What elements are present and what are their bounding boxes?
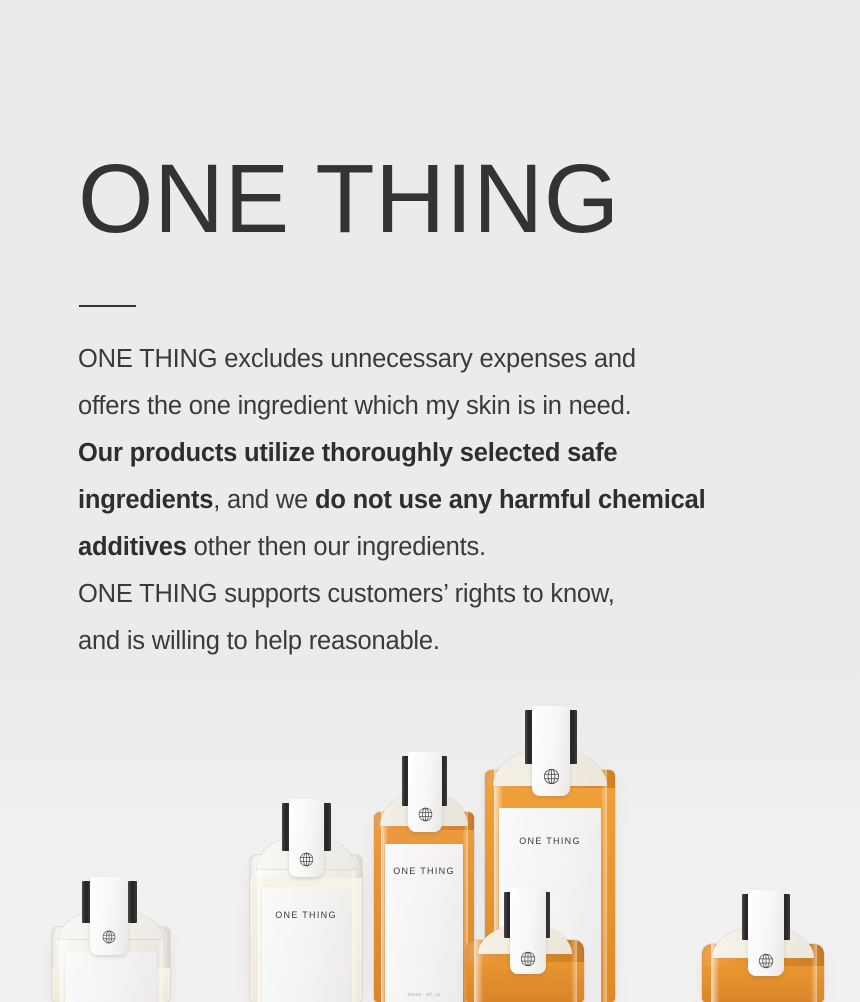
bottle-label-brand: ONE THING [275,910,337,920]
one-thing-circle-logo-icon [519,950,537,968]
bottle-label-volume: 150ml · 5fl. oz [407,992,440,997]
bottle-label-brand: ONE THING [393,866,455,876]
bottle-glass: ONE THING [250,855,362,1002]
bottle-neck-tag [90,877,128,955]
description-text: and is willing to help reasonable. [78,627,440,655]
description-line-5: additives other then our ingredients. [78,524,818,571]
description-text-bold: Our products utilize thoroughly selected… [78,439,617,467]
product-bottle[interactable]: ONE THING [250,855,362,1002]
description-line-1: ONE THING excludes unnecessary expenses … [78,336,818,383]
description-line-4: ingredients, and we do not use any harmf… [78,477,818,524]
product-bottle[interactable]: ONE THING 150ml · 5fl. oz [374,812,474,1002]
brand-description: ONE THING excludes unnecessary expenses … [78,336,818,665]
product-lineup-image: ONE THING [0,690,860,1002]
bottle-label-brand: ONE THING [519,836,581,846]
description-line-3: Our products utilize thoroughly selected… [78,430,818,477]
bottle-label [65,951,157,1002]
one-thing-circle-logo-icon [298,851,315,868]
bottle-neck-tag [408,752,442,832]
bottle-label: ONE THING 150ml · 5fl. oz [385,844,463,1002]
bottle-neck-tag [748,890,784,976]
bottle-neck-tag [510,888,546,974]
pump-stem-right [128,881,137,923]
one-thing-circle-logo-icon [101,929,117,945]
description-line-7: and is willing to help reasonable. [78,618,818,665]
one-thing-circle-logo-icon [417,806,434,823]
description-text-bold: additives [78,533,187,561]
page-title: ONE THING [78,150,818,247]
description-text-bold: do not use any harmful chemical [315,486,706,514]
product-bottle[interactable] [466,940,584,1002]
bottle-glass: ONE THING 150ml · 5fl. oz [374,812,474,1002]
description-text: ONE THING excludes unnecessary expenses … [78,345,636,373]
description-text: , and we [213,486,315,514]
description-text: ONE THING supports customers’ rights to … [78,580,615,608]
bottle-neck-tag [532,706,570,796]
hero-section: ONE THING ONE THING excludes unnecessary… [78,150,818,665]
description-text: offers the one ingredient which my skin … [78,392,631,420]
title-divider [79,305,136,307]
bottle-neck-tag [289,799,324,877]
one-thing-circle-logo-icon [757,952,775,970]
description-line-2: offers the one ingredient which my skin … [78,383,818,430]
one-thing-circle-logo-icon [542,767,561,786]
product-brand-page: ONE THING ONE THING excludes unnecessary… [0,0,860,1002]
bottle-label: ONE THING [262,887,349,1002]
description-text: other then our ingredients. [187,533,486,561]
description-line-6: ONE THING supports customers’ rights to … [78,571,818,618]
product-bottle[interactable] [702,944,824,1002]
description-text-bold: ingredients [78,486,213,514]
product-bottle[interactable] [52,927,170,1002]
